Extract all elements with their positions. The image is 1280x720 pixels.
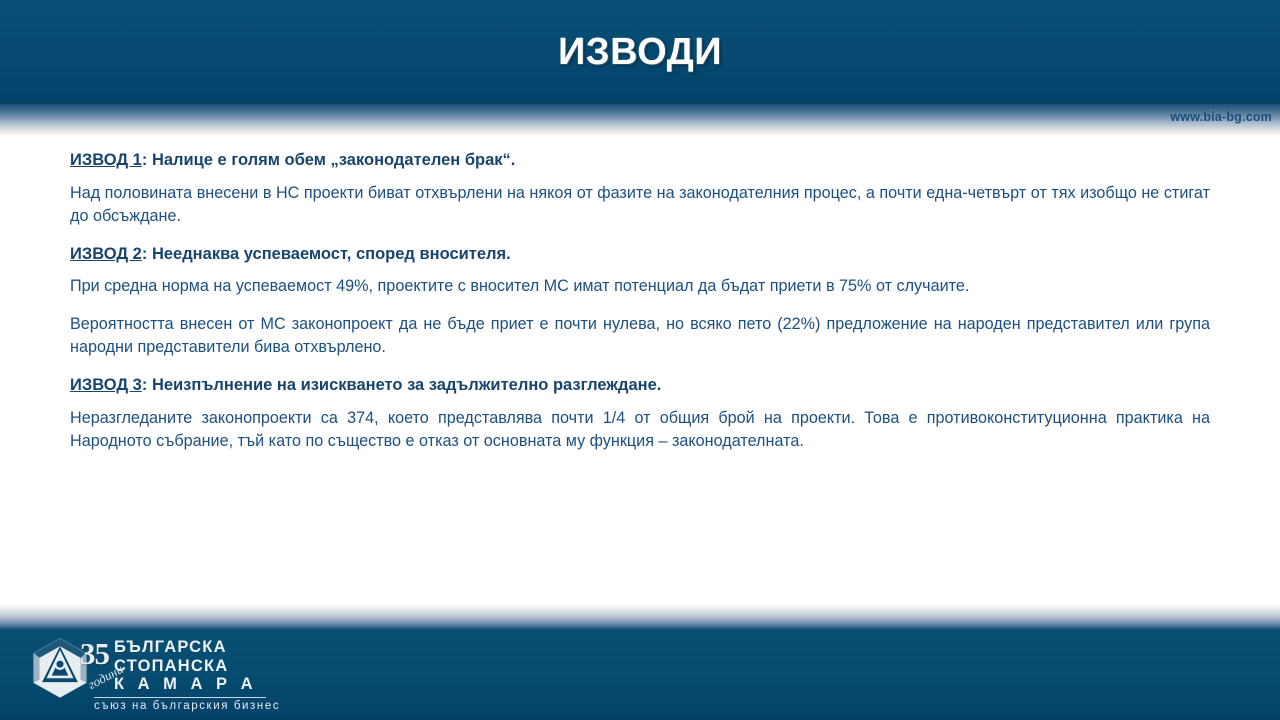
conclusion-heading-3: ИЗВОД 3: Неизпълнение на изискването за … bbox=[70, 375, 1210, 396]
conclusion-label-1: ИЗВОД 1 bbox=[70, 151, 142, 169]
conclusion-paragraph-2-2: Вероятността внесен от МС законопроект д… bbox=[70, 313, 1210, 359]
page-title: ИЗВОДИ bbox=[0, 0, 1280, 104]
logo-name-line-3: К А М А Р А bbox=[114, 676, 280, 693]
conclusion-paragraph-2-1: При средна норма на успеваемост 49%, про… bbox=[70, 275, 1210, 298]
conclusion-separator-2: : bbox=[142, 245, 152, 263]
conclusion-separator-1: : bbox=[142, 151, 152, 169]
conclusion-paragraph-3-1: Неразгледаните законопроекти са 374, кое… bbox=[70, 407, 1210, 453]
slide: ИЗВОДИ www.bia-bg.com ИЗВОД 1: Налице е … bbox=[0, 0, 1280, 720]
conclusion-label-2: ИЗВОД 2 bbox=[70, 245, 142, 263]
logo-name-line-2: СТОПАНСКА bbox=[114, 658, 280, 675]
logo-tagline: съюз на българския бизнес bbox=[94, 700, 280, 712]
conclusion-heading-text-1: Налице е голям обем „законодателен брак“… bbox=[152, 151, 515, 169]
logo-anniversary-number: 35 bbox=[80, 636, 109, 672]
logo-name-line-1: БЪЛГАРСКА bbox=[114, 639, 280, 656]
conclusion-separator-3: : bbox=[142, 376, 152, 394]
logo-divider bbox=[94, 697, 266, 699]
logo-text-block: 35 години БЪЛГАРСКА СТОПАНСКА К А М А Р … bbox=[92, 636, 280, 712]
conclusion-heading-2: ИЗВОД 2: Нееднаква успеваемост, според в… bbox=[70, 244, 1210, 265]
conclusion-heading-1: ИЗВОД 1: Налице е голям обем „законодате… bbox=[70, 150, 1210, 171]
site-url-label: www.bia-bg.com bbox=[1170, 110, 1272, 124]
header-gradient bbox=[0, 104, 1280, 136]
conclusion-heading-text-3: Неизпълнение на изискването за задължите… bbox=[152, 376, 661, 394]
organization-logo: 35 години БЪЛГАРСКА СТОПАНСКА К А М А Р … bbox=[28, 636, 280, 714]
content-area: ИЗВОД 1: Налице е голям обем „законодате… bbox=[70, 150, 1210, 467]
conclusion-paragraph-1-1: Над половината внесени в НС проекти бива… bbox=[70, 182, 1210, 228]
conclusion-label-3: ИЗВОД 3 bbox=[70, 376, 142, 394]
conclusion-heading-text-2: Нееднаква успеваемост, според вносителя. bbox=[152, 245, 511, 263]
footer-gradient bbox=[0, 604, 1280, 630]
logo-name-lines: БЪЛГАРСКА СТОПАНСКА К А М А Р А bbox=[114, 639, 280, 693]
